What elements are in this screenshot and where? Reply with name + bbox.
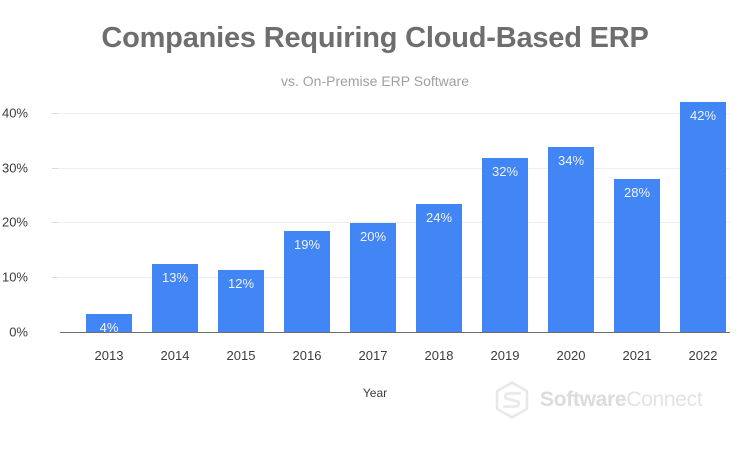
bar-value-label: 24% — [416, 210, 462, 225]
plot-area: 0%10%20%30%40%4%13%12%19%20%24%32%34%28%… — [60, 110, 730, 342]
y-axis-tick-label: 10% — [0, 270, 28, 285]
x-axis-line — [60, 332, 730, 333]
hexagon-s-logo-icon — [492, 380, 532, 420]
bar[interactable]: 13% — [152, 264, 198, 332]
chart-subtitle: vs. On-Premise ERP Software — [0, 73, 750, 89]
y-axis-tick-label: 30% — [0, 160, 28, 175]
watermark-text-bold: Software — [540, 388, 626, 411]
bar[interactable]: 32% — [482, 158, 528, 332]
watermark-text: SoftwareConnect — [540, 388, 702, 412]
bar-value-label: 20% — [350, 229, 396, 244]
bar[interactable]: 24% — [416, 204, 462, 332]
bar-value-label: 28% — [614, 185, 660, 200]
bar[interactable]: 34% — [548, 147, 594, 332]
gridline — [60, 113, 730, 114]
y-axis-tick-label: 0% — [0, 325, 28, 340]
bar-value-label: 13% — [152, 270, 198, 285]
watermark-text-light: Connect — [626, 388, 702, 411]
bar-value-label: 12% — [218, 276, 264, 291]
bar-value-label: 4% — [86, 320, 132, 335]
y-axis-tick-mark — [52, 277, 59, 278]
y-axis-tick-mark — [52, 113, 59, 114]
gridline — [60, 168, 730, 169]
bar[interactable]: 19% — [284, 231, 330, 332]
bar-value-label: 42% — [680, 108, 726, 123]
bar[interactable]: 42% — [680, 102, 726, 332]
bar[interactable]: 12% — [218, 270, 264, 332]
y-axis-tick-mark — [52, 168, 59, 169]
x-axis-tick-label: 2022 — [663, 348, 743, 363]
y-axis-tick-label: 40% — [0, 105, 28, 120]
bar-chart: Companies Requiring Cloud-Based ERP vs. … — [0, 0, 750, 458]
chart-title: Companies Requiring Cloud-Based ERP — [0, 22, 750, 55]
bar[interactable]: 28% — [614, 179, 660, 332]
bar[interactable]: 4% — [86, 314, 132, 332]
bar[interactable]: 20% — [350, 223, 396, 332]
bar-value-label: 32% — [482, 164, 528, 179]
y-axis-tick-mark — [52, 222, 59, 223]
bar-value-label: 19% — [284, 237, 330, 252]
y-axis-tick-label: 20% — [0, 215, 28, 230]
watermark-logo: SoftwareConnect — [492, 380, 702, 420]
bar-value-label: 34% — [548, 153, 594, 168]
